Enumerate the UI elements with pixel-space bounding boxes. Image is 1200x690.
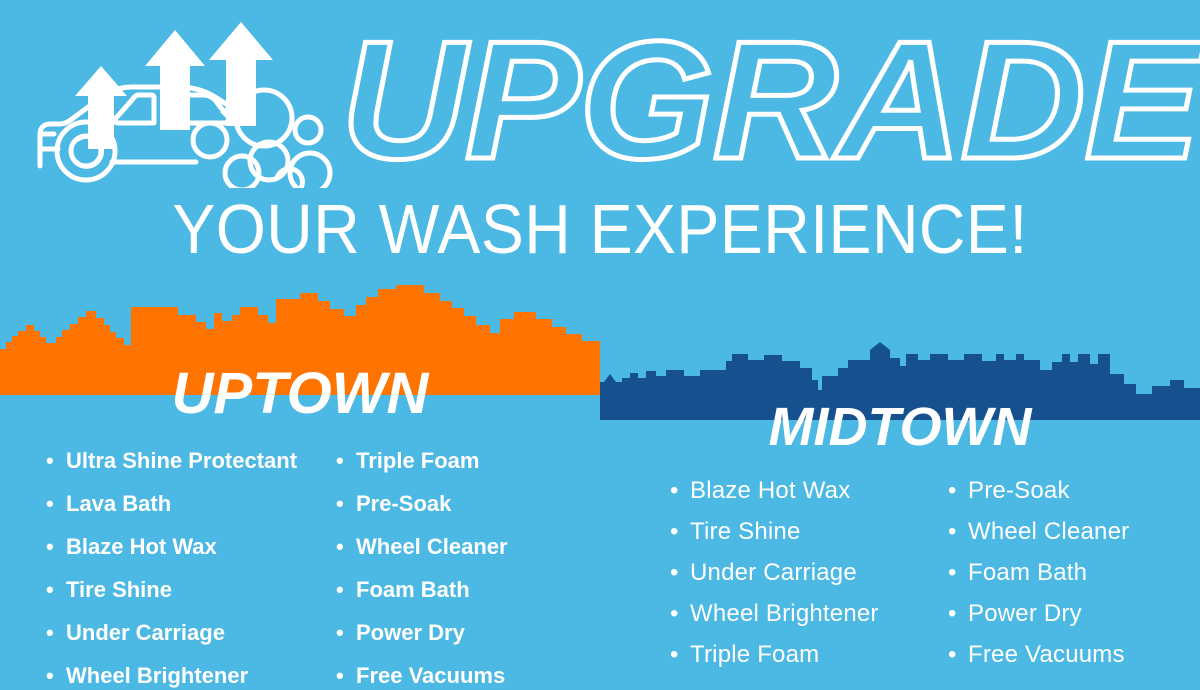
hero-section: UPGRADE YOUR WASH EXPERIENCE! bbox=[0, 0, 1200, 300]
page-title: UPGRADE bbox=[332, 14, 1200, 186]
list-item: Pre-Soak bbox=[334, 482, 574, 525]
list-item: Under Carriage bbox=[668, 552, 946, 593]
list-item: Foam Bath bbox=[334, 568, 574, 611]
list-item: Blaze Hot Wax bbox=[668, 470, 946, 511]
headline-container: UPGRADE bbox=[345, 14, 1195, 189]
list-item: Triple Foam bbox=[334, 439, 574, 482]
uptown-feature-list-left: Ultra Shine Protectant Lava Bath Blaze H… bbox=[44, 439, 334, 690]
midtown-column-left: Blaze Hot Wax Tire Shine Under Carriage … bbox=[668, 470, 946, 675]
midtown-title: MIDTOWN bbox=[600, 398, 1200, 456]
list-item: Wheel Brightener bbox=[668, 593, 946, 634]
car-line-art bbox=[40, 87, 242, 180]
list-item: Triple Foam bbox=[668, 634, 946, 675]
list-item: Wheel Brightener bbox=[44, 654, 334, 690]
list-item: Power Dry bbox=[334, 611, 574, 654]
list-item: Lava Bath bbox=[44, 482, 334, 525]
list-item: Ultra Shine Protectant bbox=[44, 439, 334, 482]
list-item: Tire Shine bbox=[44, 568, 334, 611]
list-item: Tire Shine bbox=[668, 511, 946, 552]
promo-poster: UPGRADE YOUR WASH EXPERIENCE! UPTOWN Ult… bbox=[0, 0, 1200, 690]
page-subtitle: YOUR WASH EXPERIENCE! bbox=[48, 192, 1152, 266]
uptown-panel: UPTOWN Ultra Shine Protectant Lava Bath … bbox=[0, 285, 600, 690]
list-item: Power Dry bbox=[946, 593, 1186, 634]
list-item: Free Vacuums bbox=[334, 654, 574, 690]
soap-bubbles bbox=[222, 90, 330, 188]
midtown-column-right: Pre-Soak Wheel Cleaner Foam Bath Power D… bbox=[946, 470, 1186, 675]
midtown-columns: Blaze Hot Wax Tire Shine Under Carriage … bbox=[600, 470, 1200, 675]
list-item: Wheel Cleaner bbox=[334, 525, 574, 568]
midtown-feature-list-left: Blaze Hot Wax Tire Shine Under Carriage … bbox=[668, 470, 946, 675]
uptown-title: UPTOWN bbox=[0, 363, 600, 425]
midtown-content: MIDTOWN Blaze Hot Wax Tire Shine Under C… bbox=[600, 398, 1200, 675]
list-item: Pre-Soak bbox=[946, 470, 1186, 511]
list-item: Blaze Hot Wax bbox=[44, 525, 334, 568]
midtown-feature-list-right: Pre-Soak Wheel Cleaner Foam Bath Power D… bbox=[946, 470, 1186, 675]
uptown-column-left: Ultra Shine Protectant Lava Bath Blaze H… bbox=[44, 439, 334, 690]
list-item: Wheel Cleaner bbox=[946, 511, 1186, 552]
midtown-panel: MIDTOWN Blaze Hot Wax Tire Shine Under C… bbox=[600, 340, 1200, 690]
up-arrow-large bbox=[209, 22, 273, 126]
list-item: Under Carriage bbox=[44, 611, 334, 654]
car-wash-upgrade-icon bbox=[28, 18, 358, 188]
uptown-column-right: Triple Foam Pre-Soak Wheel Cleaner Foam … bbox=[334, 439, 574, 690]
list-item: Foam Bath bbox=[946, 552, 1186, 593]
uptown-feature-list-right: Triple Foam Pre-Soak Wheel Cleaner Foam … bbox=[334, 439, 574, 690]
list-item: Free Vacuums bbox=[946, 634, 1186, 675]
uptown-content: UPTOWN Ultra Shine Protectant Lava Bath … bbox=[0, 363, 600, 690]
uptown-columns: Ultra Shine Protectant Lava Bath Blaze H… bbox=[0, 439, 600, 690]
